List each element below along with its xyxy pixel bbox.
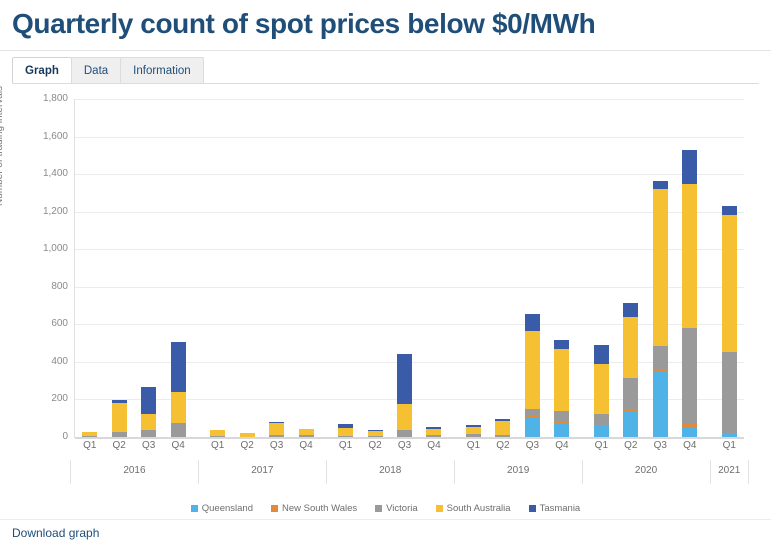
tab-information[interactable]: Information [120,57,204,84]
bar-stack[interactable] [426,427,441,437]
bar-segment [653,372,668,437]
bar-stack[interactable] [240,433,255,437]
legend-item-tasmania[interactable]: Tasmania [529,503,581,514]
bar-segment [495,421,510,435]
bar-segment [466,434,481,437]
bar-segment [722,352,737,434]
bar-segment [682,427,697,437]
legend-label: Queensland [202,503,253,514]
bar-stack[interactable] [466,425,481,437]
x-tick-label: Q1 [75,440,105,451]
legend-item-victoria[interactable]: Victoria [375,503,418,514]
x-tick-label: Q1 [331,440,361,451]
y-axis-label: Number of trading intervals [0,86,5,206]
bar-stack[interactable] [682,150,697,437]
year-group-label: 2018 [326,460,454,484]
tab-data[interactable]: Data [71,57,121,84]
y-tick-label: 1,200 [8,206,68,217]
y-tick-label: 200 [8,393,68,404]
bar-segment [623,411,638,437]
year-group-label: 2020 [582,460,710,484]
x-tick-label: Q4 [419,440,449,451]
bar-segment [623,317,638,378]
bar-segment [525,331,540,409]
year-group-label: 2017 [198,460,326,484]
bar-segment [141,387,156,413]
x-tick-label: Q3 [645,440,675,451]
page-title: Quarterly count of spot prices below $0/… [0,0,771,42]
legend-item-new-south-wales[interactable]: New South Wales [271,503,357,514]
bar-segment [240,433,255,437]
bar-segment [397,404,412,430]
x-tick-label: Q1 [203,440,233,451]
y-tick-label: 400 [8,356,68,367]
bar-segment [269,435,284,437]
bar-stack[interactable] [299,429,314,437]
bar-segment [722,215,737,351]
x-tick-label: Q4 [675,440,705,451]
tab-bar: GraphDataInformation [12,57,203,84]
year-group-label: 2016 [70,460,198,484]
x-tick-label: Q1 [586,440,616,451]
bar-segment [171,392,186,423]
x-tick-label: Q1 [714,440,744,451]
y-tick-label: 1,800 [8,93,68,104]
bar-segment [338,436,353,437]
bar-segment [397,430,412,437]
x-tick-label: Q2 [104,440,134,451]
bar-segment [623,303,638,317]
bar-stack[interactable] [171,342,186,437]
bar-stack[interactable] [722,206,737,437]
x-tick-label: Q2 [232,440,262,451]
gridline [75,174,744,175]
x-axis-year-groups: 201620172018201920202021 [75,460,744,486]
gridline [75,99,744,100]
tab-graph[interactable]: Graph [12,57,72,84]
bar-stack[interactable] [525,314,540,437]
title-divider [0,50,771,51]
bar-segment [466,427,481,435]
bar-segment [722,206,737,215]
bar-stack[interactable] [653,181,668,437]
bar-segment [269,423,284,435]
bar-stack[interactable] [554,340,569,437]
bar-segment [141,430,156,438]
legend-swatch-icon [436,505,443,512]
y-tick-label: 800 [8,281,68,292]
legend-item-queensland[interactable]: Queensland [191,503,253,514]
bar-segment [171,342,186,392]
bar-segment [112,432,127,437]
x-tick-label: Q2 [616,440,646,451]
bar-segment [594,364,609,415]
x-tick-label: Q2 [360,440,390,451]
bar-segment [653,189,668,346]
y-tick-label: 600 [8,318,68,329]
bar-segment [141,414,156,430]
bar-stack[interactable] [623,303,638,437]
bar-segment [554,423,569,437]
chart-container: Number of trading intervals 020040060080… [0,88,771,498]
legend-label: South Australia [447,503,511,514]
bar-segment [554,340,569,348]
bar-segment [682,184,697,329]
bar-stack[interactable] [338,424,353,437]
legend-item-south-australia[interactable]: South Australia [436,503,511,514]
bar-segment [682,150,697,184]
y-tick-label: 1,600 [8,131,68,142]
bar-segment [495,435,510,437]
gridline [75,137,744,138]
bar-segment [338,428,353,436]
year-group-label: 2021 [710,460,749,484]
bar-segment [299,435,314,437]
gridline [75,212,744,213]
bar-segment [594,414,609,424]
x-tick-label: Q2 [488,440,518,451]
bar-segment [368,436,383,437]
bar-stack[interactable] [368,430,383,438]
gridline [75,324,744,325]
y-tick-label: 0 [8,431,68,442]
bar-segment [397,354,412,404]
bar-segment [171,423,186,437]
x-tick-label: Q3 [517,440,547,451]
legend-swatch-icon [271,505,278,512]
bar-stack[interactable] [495,419,510,437]
bar-segment [210,436,225,437]
legend-label: Tasmania [540,503,581,514]
bar-segment [82,436,97,437]
bar-segment [554,349,569,411]
x-tick-label: Q3 [262,440,292,451]
x-tick-label: Q3 [134,440,164,451]
x-tick-label: Q3 [390,440,420,451]
bar-segment [554,411,569,421]
bar-segment [525,417,540,437]
bar-stack[interactable] [141,387,156,437]
bar-segment [682,328,697,423]
legend-swatch-icon [529,505,536,512]
y-tick-label: 1,400 [8,168,68,179]
bar-segment [426,435,441,437]
bar-stack[interactable] [82,432,97,437]
chart-legend: QueenslandNew South WalesVictoriaSouth A… [0,503,771,514]
legend-label: Victoria [386,503,418,514]
bar-stack[interactable] [210,430,225,438]
download-graph-link[interactable]: Download graph [12,526,99,540]
bar-segment [623,378,638,409]
bar-segment [525,314,540,331]
bar-segment [112,403,127,432]
bar-segment [653,181,668,189]
gridline [75,287,744,288]
year-group-label: 2019 [454,460,582,484]
bar-segment [594,426,609,437]
bar-stack[interactable] [594,345,609,437]
bar-stack[interactable] [112,400,127,437]
x-axis-line [75,438,744,439]
x-axis-quarter-labels: Q1Q2Q3Q4Q1Q2Q3Q4Q1Q2Q3Q4Q1Q2Q3Q4Q1Q2Q3Q4… [75,440,744,460]
tab-underline [12,83,759,84]
bar-segment [594,345,609,364]
legend-swatch-icon [375,505,382,512]
footer-divider [0,519,771,520]
bar-stack[interactable] [397,354,412,437]
x-tick-label: Q4 [163,440,193,451]
bar-segment [722,433,737,437]
bar-segment [653,346,668,369]
plot-area [75,99,744,437]
gridline [75,249,744,250]
legend-label: New South Wales [282,503,357,514]
x-tick-label: Q4 [547,440,577,451]
x-tick-label: Q1 [458,440,488,451]
legend-swatch-icon [191,505,198,512]
x-tick-label: Q4 [291,440,321,451]
y-tick-label: 1,000 [8,243,68,254]
bar-stack[interactable] [269,422,284,437]
